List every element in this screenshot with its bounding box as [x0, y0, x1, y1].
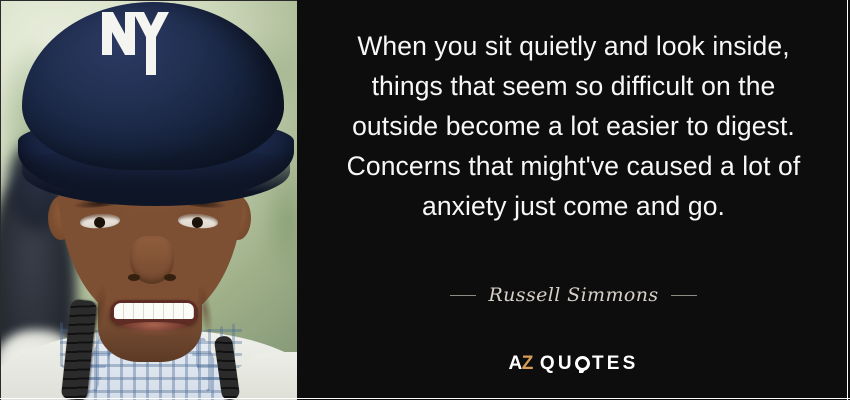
nostril-left — [128, 274, 140, 281]
speech-bubble-o-icon — [575, 356, 590, 371]
bottom-edge-line — [0, 398, 850, 399]
logo-letter-q: Q — [540, 353, 558, 374]
azquotes-logo[interactable]: AZQUTES — [297, 353, 850, 375]
nostril-right — [164, 274, 176, 281]
lower-lip — [116, 322, 192, 336]
attribution-dash-right — [671, 295, 697, 296]
logo-letter-a: A — [509, 353, 522, 374]
logo-letter-u: U — [558, 353, 575, 374]
right-edge-line — [847, 0, 848, 400]
teeth — [114, 303, 194, 319]
logo-letter-t: T — [592, 353, 607, 374]
logo-az: AZ — [509, 353, 533, 374]
logo-letter-e: E — [607, 353, 623, 374]
attribution-dash-left — [450, 295, 476, 296]
quote-text: When you sit quietly and look inside, th… — [325, 26, 822, 226]
quote-card: When you sit quietly and look inside, th… — [0, 0, 850, 400]
logo-quotes: QUTES — [540, 353, 639, 374]
attribution: Russell Simmons — [297, 284, 850, 306]
eyelid-right — [175, 208, 221, 220]
ny-yankees-logo-icon — [96, 8, 170, 76]
quote-panel: When you sit quietly and look inside, th… — [297, 0, 850, 400]
logo-letter-z: Z — [522, 353, 533, 374]
author-name: Russell Simmons — [488, 284, 658, 306]
eyelid-left — [77, 208, 123, 220]
portrait-photo — [0, 0, 297, 400]
logo-letter-s: S — [623, 353, 639, 374]
